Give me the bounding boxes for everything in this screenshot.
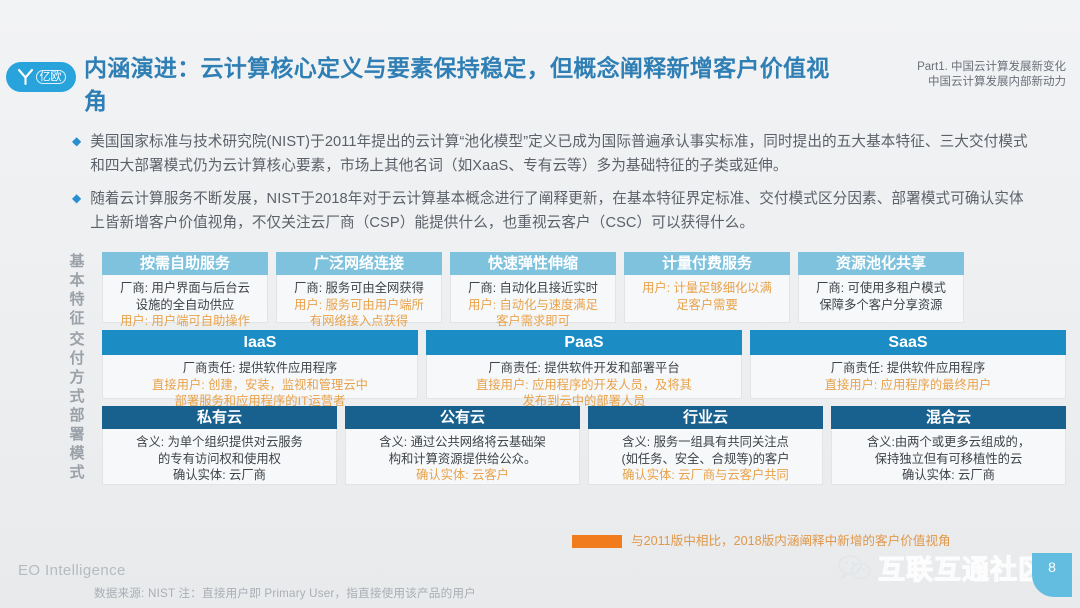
card-title: 私有云: [102, 406, 337, 429]
slide-page: 亿欧 内涵演进：云计算核心定义与要素保持稳定，但概念阐释新增客户价值视角 Par…: [0, 0, 1080, 608]
card-line: 设施的全自动供应: [109, 297, 261, 314]
card-line: (如任务、安全、合规等)的客户: [595, 451, 816, 468]
card-line: 用户: 用户端可自助操作: [109, 313, 261, 330]
card-line: 直接用户: 创建，安装，监视和管理云中: [109, 377, 411, 394]
matrix-row-deployment-models: 部署模式 私有云 含义: 为单个组织提供对云服务 的专有访问权和使用权 确认实体…: [66, 406, 1066, 485]
diamond-bullet-icon: ◆: [72, 187, 81, 210]
brand-footer: EO Intelligence: [18, 562, 126, 579]
row-cards: 按需自助服务 厂商: 用户界面与后台云 设施的全自动供应 用户: 用户端可自助操…: [102, 252, 1066, 323]
card-line: 用户: 服务可由用户端所: [283, 297, 435, 314]
matrix-row-service-models: 交付方式 IaaS 厂商责任: 提供软件应用程序 直接用户: 创建，安装，监视和…: [66, 330, 1066, 399]
card-line: 含义: 服务一组具有共同关注点: [595, 434, 816, 451]
card-body: 厂商: 可使用多租户模式 保障多个客户分享资源: [799, 275, 963, 322]
card-body: 厂商责任: 提供软件应用程序 直接用户: 应用程序的最终用户: [751, 355, 1065, 399]
card-line: 含义: 为单个组织提供对云服务: [109, 434, 330, 451]
eo-logo: 亿欧: [6, 62, 76, 92]
card-line: 用户: 计量足够细化以满: [631, 280, 783, 297]
card-line: 足客户需要: [631, 297, 783, 314]
watermark: 互联互通社区: [838, 548, 1046, 587]
card-broad-network-access[interactable]: 广泛网络连接 厂商: 服务可由全网获得 用户: 服务可由用户端所 有网络接入点获…: [276, 252, 442, 323]
y-mark-icon: [17, 68, 34, 86]
wechat-icon: [838, 554, 872, 582]
card-line: 厂商: 可使用多租户模式: [805, 280, 957, 297]
card-line: 厂商责任: 提供软件应用程序: [109, 360, 411, 377]
card-line: 构和计算资源提供给公众。: [352, 451, 573, 468]
part-caption-line1: Part1. 中国云计算发展新变化: [917, 60, 1066, 75]
card-resource-pooling[interactable]: 资源池化共享 厂商: 可使用多租户模式 保障多个客户分享资源: [798, 252, 964, 323]
card-title: IaaS: [102, 330, 418, 355]
legend: 与2011版中相比，2018版内涵阐释中新增的客户价值视角: [572, 533, 951, 549]
card-title: 按需自助服务: [102, 252, 268, 275]
card-title: 广泛网络连接: [276, 252, 442, 275]
bullet-text: 美国国家标准与技术研究院(NIST)于2011年提出的云计算“池化模型”定义已成…: [90, 130, 1038, 178]
slide-header: 亿欧 内涵演进：云计算核心定义与要素保持稳定，但概念阐释新增客户价值视角 Par…: [0, 24, 1080, 96]
row-cards: IaaS 厂商责任: 提供软件应用程序 直接用户: 创建，安装，监视和管理云中 …: [102, 330, 1066, 399]
card-hybrid-cloud[interactable]: 混合云 含义:由两个或更多云组成的， 保持独立但有可移植性的云 确认实体: 云厂…: [831, 406, 1066, 485]
card-line: 直接用户: 应用程序的最终用户: [757, 377, 1059, 394]
row-label-characteristics: 基本特征: [66, 252, 88, 328]
card-line: 保障多个客户分享资源: [805, 297, 957, 314]
card-title: 公有云: [345, 406, 580, 429]
card-title: 快速弹性伸缩: [450, 252, 616, 275]
page-number: 8: [1032, 553, 1072, 597]
card-line: 含义:由两个或更多云组成的，: [838, 434, 1059, 451]
card-saas[interactable]: SaaS 厂商责任: 提供软件应用程序 直接用户: 应用程序的最终用户: [750, 330, 1066, 399]
card-measured-service[interactable]: 计量付费服务 用户: 计量足够细化以满 足客户需要: [624, 252, 790, 323]
row-label-deployment-models: 部署模式: [66, 406, 88, 482]
card-private-cloud[interactable]: 私有云 含义: 为单个组织提供对云服务 的专有访问权和使用权 确认实体: 云厂商: [102, 406, 337, 485]
part-caption-line2: 中国云计算发展内部新动力: [917, 75, 1066, 90]
bullet-list: ◆ 美国国家标准与技术研究院(NIST)于2011年提出的云计算“池化模型”定义…: [72, 130, 1038, 244]
card-body: 含义: 为单个组织提供对云服务 的专有访问权和使用权 确认实体: 云厂商: [103, 429, 336, 490]
card-title: 计量付费服务: [624, 252, 790, 275]
source-note: 数据来源: NIST 注：直接用户即 Primary User，指直接使用该产品…: [94, 585, 476, 601]
part-caption: Part1. 中国云计算发展新变化 中国云计算发展内部新动力: [917, 60, 1066, 90]
legend-swatch-icon: [572, 535, 622, 548]
card-line: 确认实体: 云厂商与云客户共同: [595, 467, 816, 484]
card-line: 厂商: 服务可由全网获得: [283, 280, 435, 297]
card-line: 厂商责任: 提供软件开发和部署平台: [433, 360, 735, 377]
card-line: 厂商: 用户界面与后台云: [109, 280, 261, 297]
card-body: 厂商: 自动化且接近实时 用户: 自动化与速度满足 客户需求即可: [451, 275, 615, 336]
card-body: 用户: 计量足够细化以满 足客户需要: [625, 275, 789, 322]
card-line: 保持独立但有可移植性的云: [838, 451, 1059, 468]
page-title: 内涵演进：云计算核心定义与要素保持稳定，但概念阐释新增客户价值视角: [84, 52, 844, 118]
card-title: 资源池化共享: [798, 252, 964, 275]
bullet-item: ◆ 美国国家标准与技术研究院(NIST)于2011年提出的云计算“池化模型”定义…: [72, 130, 1038, 178]
card-community-cloud[interactable]: 行业云 含义: 服务一组具有共同关注点 (如任务、安全、合规等)的客户 确认实体…: [588, 406, 823, 485]
card-line: 确认实体: 云厂商: [838, 467, 1059, 484]
card-body: 含义: 通过公共网络将云基础架 构和计算资源提供给公众。 确认实体: 云客户: [346, 429, 579, 490]
diamond-bullet-icon: ◆: [72, 130, 81, 153]
card-line: 直接用户: 应用程序的开发人员，及将其: [433, 377, 735, 394]
logo-label: 亿欧: [36, 70, 66, 84]
bullet-text: 随着云计算服务不断发展，NIST于2018年对于云计算基本概念进行了阐释更新，在…: [90, 187, 1038, 235]
card-body: 含义:由两个或更多云组成的， 保持独立但有可移植性的云 确认实体: 云厂商: [832, 429, 1065, 490]
card-body: 厂商: 服务可由全网获得 用户: 服务可由用户端所 有网络接入点获得: [277, 275, 441, 336]
card-line: 厂商责任: 提供软件应用程序: [757, 360, 1059, 377]
card-title: SaaS: [750, 330, 1066, 355]
row-cards: 私有云 含义: 为单个组织提供对云服务 的专有访问权和使用权 确认实体: 云厂商…: [102, 406, 1066, 485]
card-line: 用户: 自动化与速度满足: [457, 297, 609, 314]
card-rapid-elasticity[interactable]: 快速弹性伸缩 厂商: 自动化且接近实时 用户: 自动化与速度满足 客户需求即可: [450, 252, 616, 323]
cloud-model-matrix: 基本特征 按需自助服务 厂商: 用户界面与后台云 设施的全自动供应 用户: 用户…: [66, 252, 1066, 492]
card-title: PaaS: [426, 330, 742, 355]
legend-text: 与2011版中相比，2018版内涵阐释中新增的客户价值视角: [631, 533, 951, 549]
card-line: 确认实体: 云厂商: [109, 467, 330, 484]
card-line: 厂商: 自动化且接近实时: [457, 280, 609, 297]
card-public-cloud[interactable]: 公有云 含义: 通过公共网络将云基础架 构和计算资源提供给公众。 确认实体: 云…: [345, 406, 580, 485]
watermark-text: 互联互通社区: [878, 548, 1046, 587]
card-line: 客户需求即可: [457, 313, 609, 330]
card-paas[interactable]: PaaS 厂商责任: 提供软件开发和部署平台 直接用户: 应用程序的开发人员，及…: [426, 330, 742, 399]
card-iaas[interactable]: IaaS 厂商责任: 提供软件应用程序 直接用户: 创建，安装，监视和管理云中 …: [102, 330, 418, 399]
card-title: 混合云: [831, 406, 1066, 429]
card-line: 的专有访问权和使用权: [109, 451, 330, 468]
card-title: 行业云: [588, 406, 823, 429]
row-label-service-models: 交付方式: [66, 330, 88, 406]
card-on-demand-self-service[interactable]: 按需自助服务 厂商: 用户界面与后台云 设施的全自动供应 用户: 用户端可自助操…: [102, 252, 268, 323]
bullet-item: ◆ 随着云计算服务不断发展，NIST于2018年对于云计算基本概念进行了阐释更新…: [72, 187, 1038, 235]
card-body: 厂商: 用户界面与后台云 设施的全自动供应 用户: 用户端可自助操作: [103, 275, 267, 336]
card-body: 含义: 服务一组具有共同关注点 (如任务、安全、合规等)的客户 确认实体: 云厂…: [589, 429, 822, 490]
card-line: 含义: 通过公共网络将云基础架: [352, 434, 573, 451]
card-line: 有网络接入点获得: [283, 313, 435, 330]
matrix-row-characteristics: 基本特征 按需自助服务 厂商: 用户界面与后台云 设施的全自动供应 用户: 用户…: [66, 252, 1066, 323]
card-line: 确认实体: 云客户: [352, 467, 573, 484]
